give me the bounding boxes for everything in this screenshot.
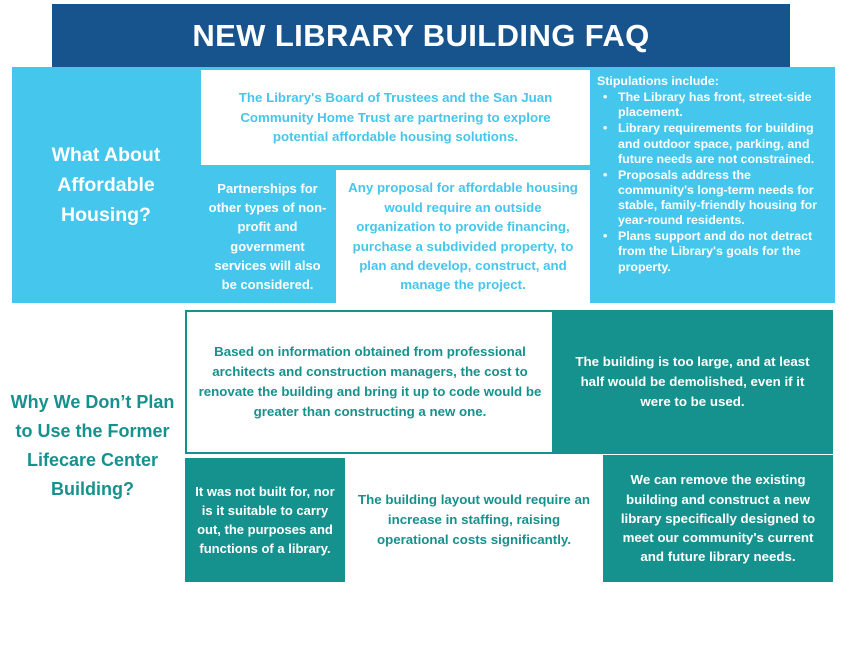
stipulations-list: The Library has front, street-side place…: [594, 90, 829, 275]
card-layout-staffing-costs: The building layout would require an inc…: [345, 458, 603, 582]
card-not-built-for-library: It was not built for, nor is it suitable…: [185, 458, 345, 582]
card-other-partnerships-text: Partnerships for other types of non-prof…: [205, 179, 330, 294]
card-building-too-large-text: The building is too large, and at least …: [564, 352, 821, 412]
card-layout-staffing-costs-text: The building layout would require an inc…: [353, 490, 595, 550]
card-remove-and-construct: We can remove the existing building and …: [603, 455, 833, 582]
list-item: Proposals address the community's long-t…: [594, 168, 829, 229]
card-remove-and-construct-text: We can remove the existing building and …: [611, 470, 825, 566]
list-item: Plans support and do not detract from th…: [594, 229, 829, 274]
list-item: The Library has front, street-side place…: [594, 90, 829, 120]
card-trustees-partnership: The Library's Board of Trustees and the …: [201, 70, 590, 165]
card-trustees-partnership-text: The Library's Board of Trustees and the …: [213, 88, 578, 148]
section-heading-label: Why We Don’t Plan to Use the Former Life…: [6, 388, 179, 505]
card-renovation-cost: Based on information obtained from profe…: [185, 310, 555, 454]
card-proposal-requirements-text: Any proposal for affordable housing woul…: [344, 178, 582, 294]
list-item: Library requirements for building and ou…: [594, 121, 829, 166]
page-title: NEW LIBRARY BUILDING FAQ: [192, 20, 649, 53]
section-heading-lifecare-center: Why We Don’t Plan to Use the Former Life…: [0, 310, 185, 582]
card-other-partnerships: Partnerships for other types of non-prof…: [201, 170, 334, 303]
section-heading-affordable-housing: What About Affordable Housing?: [12, 67, 200, 303]
stipulations-title: Stipulations include:: [594, 74, 829, 89]
section-heading-label: What About Affordable Housing?: [22, 140, 190, 231]
card-building-too-large: The building is too large, and at least …: [552, 310, 833, 454]
title-banner: NEW LIBRARY BUILDING FAQ: [52, 4, 790, 68]
card-renovation-cost-text: Based on information obtained from profe…: [197, 342, 543, 422]
card-proposal-requirements: Any proposal for affordable housing woul…: [336, 170, 590, 303]
card-not-built-for-library-text: It was not built for, nor is it suitable…: [189, 482, 341, 558]
infographic-canvas: NEW LIBRARY BUILDING FAQ What About Affo…: [0, 0, 850, 657]
card-stipulations: Stipulations include: The Library has fr…: [592, 70, 835, 303]
